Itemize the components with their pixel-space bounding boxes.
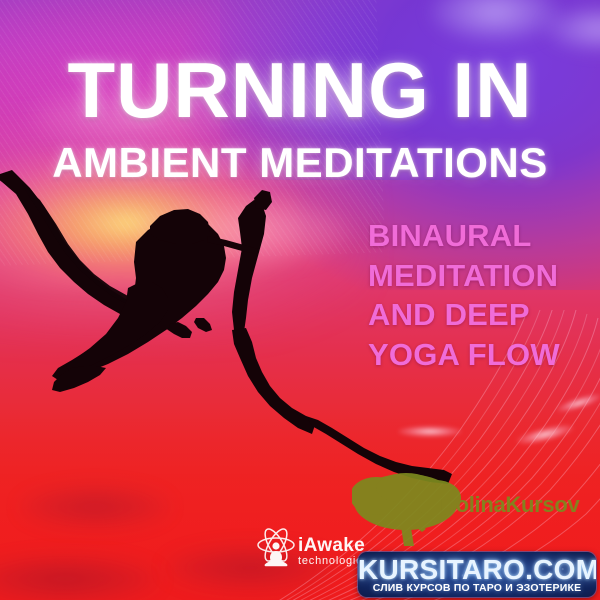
- watermark-label: DolinaKursov: [440, 492, 579, 518]
- page-title: TURNING IN: [0, 51, 600, 129]
- cloud-dark-low-a: [20, 486, 170, 528]
- atom-meditation-icon: [252, 526, 300, 574]
- tagline-block: BINAURAL MEDITATION AND DEEP YOGA FLOW: [368, 216, 588, 375]
- kursitaro-banner-subtitle: СЛИВ КУРСОВ ПО ТАРО И ЭЗОТЕРИКЕ: [358, 583, 596, 594]
- watermark-dolinakursov: DolinaKursov: [352, 472, 592, 546]
- tagline-line-4: YOGA FLOW: [368, 335, 588, 375]
- album-cover: TURNING IN AMBIENT MEDITATIONS BINAURAL …: [0, 0, 600, 600]
- light-spark-a: [398, 426, 462, 437]
- iawake-brand-name: iAwake: [298, 535, 365, 557]
- kursitaro-banner[interactable]: KURSITARO.COM СЛИВ КУРСОВ ПО ТАРО И ЭЗОТ…: [358, 552, 596, 597]
- kursitaro-banner-title: KURSITARO.COM: [358, 555, 596, 584]
- iawake-logo: iAwake technologies: [252, 526, 370, 574]
- tagline-line-3: AND DEEP: [368, 295, 588, 335]
- tagline-line-2: MEDITATION: [368, 256, 588, 296]
- page-subtitle: AMBIENT MEDITATIONS: [0, 142, 600, 184]
- tagline-line-1: BINAURAL: [368, 216, 588, 256]
